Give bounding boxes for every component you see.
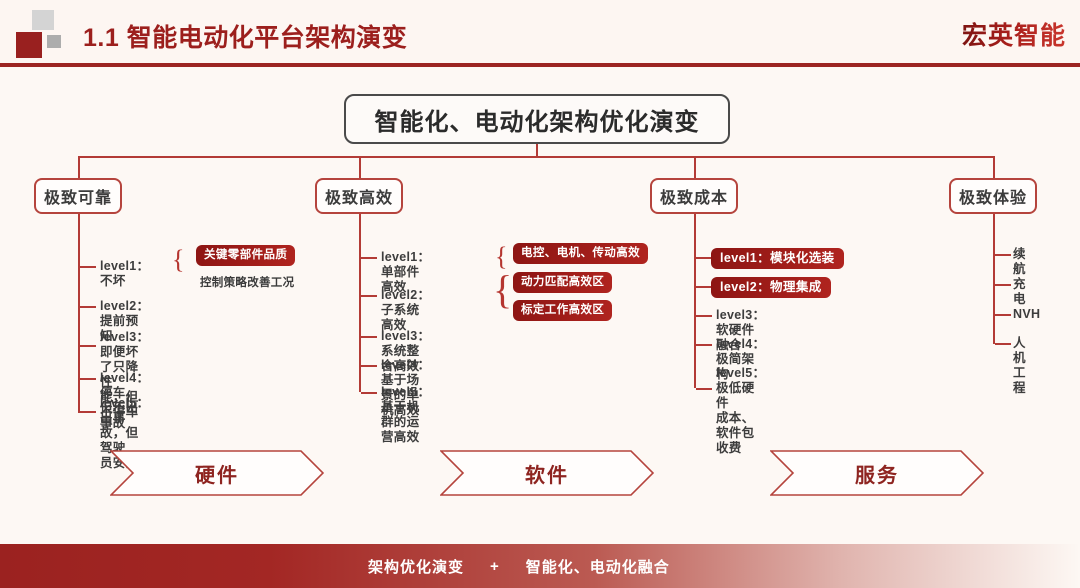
column2-badge-1: 电控、电机、传动高效 (513, 243, 648, 264)
connector-bus (78, 156, 994, 158)
root-node: 智能化、电动化架构优化演变 (344, 94, 730, 144)
chevron-software[interactable]: 软件 (440, 450, 654, 496)
column4-item-4: 人机工程 (1013, 336, 1026, 396)
column2-tick-5 (361, 392, 377, 394)
connector-cat4-spine (993, 214, 995, 248)
column1-tick-5 (80, 411, 96, 413)
column3-spine (694, 248, 696, 388)
column1-note-1: 控制策略改善工况 (200, 274, 294, 290)
column2-badge-2: 动力匹配高效区 (513, 272, 612, 293)
column1-tick-1 (80, 266, 96, 268)
column3-tick-4 (696, 344, 712, 346)
column3-tick-2 (696, 286, 712, 288)
connector-cat1-spine (78, 214, 80, 248)
column1-tick-2 (80, 306, 96, 308)
column1-tick-3 (80, 345, 96, 347)
page-header: 1.1 智能电动化平台架构演变 宏英智能 (0, 0, 1080, 66)
column1-item-1: level1：不坏 (100, 259, 149, 289)
footer-plus-sign: + (490, 558, 500, 575)
chevron-hardware[interactable]: 硬件 (110, 450, 324, 496)
column3-tick-3 (696, 315, 712, 317)
column2-item-2: level2：子系统高效 (381, 288, 430, 333)
footer-right-text: 智能化、电动化融合 (526, 556, 670, 577)
column4-tick-2 (995, 284, 1011, 286)
column2-tick-3 (361, 336, 377, 338)
column4-tick-3 (995, 314, 1011, 316)
column1-spine (78, 248, 80, 413)
column4-item-1: 续航 (1013, 247, 1026, 277)
column3-item-2: level2：物理集成 (711, 277, 831, 298)
chevron-service-label: 服务 (770, 450, 984, 496)
column4-item-2: 充电 (1013, 277, 1026, 307)
footer-left-text: 架构优化演变 (368, 556, 464, 577)
column3-tick-5 (696, 388, 712, 390)
column1-badge-1: 关键零部件品质 (196, 245, 295, 266)
three-squares-logo-icon (16, 10, 76, 56)
column4-spine (993, 248, 995, 344)
column2-tick-4 (361, 365, 377, 367)
chevron-software-label: 软件 (440, 450, 654, 496)
logo-square-red (16, 32, 42, 58)
column2-tick-2 (361, 295, 377, 297)
brand-logo-text: 宏英智能 (962, 16, 1066, 52)
column3-tick-1 (696, 257, 712, 259)
page-footer: 架构优化演变 + 智能化、电动化融合 (0, 544, 1080, 588)
connector-drop-4 (993, 156, 995, 178)
column4-item-3: NVH (1013, 307, 1040, 322)
chevron-hardware-label: 硬件 (110, 450, 324, 496)
column3-item-1: level1：模块化选装 (711, 248, 844, 269)
column3-item-5: level5：极低硬件 成本、软件包收费 (716, 366, 765, 456)
page-title: 1.1 智能电动化平台架构演变 (83, 18, 407, 54)
category-box-1[interactable]: 极致可靠 (34, 178, 122, 214)
connector-cat2-spine (359, 214, 361, 248)
column2-spine (359, 248, 361, 392)
connector-drop-2 (359, 156, 361, 178)
category-box-2[interactable]: 极致高效 (315, 178, 403, 214)
column4-tick-1 (995, 254, 1011, 256)
column4-tick-4 (995, 343, 1011, 345)
category-box-3[interactable]: 极致成本 (650, 178, 738, 214)
column1-tick-4 (80, 378, 96, 380)
connector-cat3-spine (694, 214, 696, 248)
column2-badge-3: 标定工作高效区 (513, 300, 612, 321)
column1-brace-icon: { (172, 247, 184, 273)
connector-drop-3 (694, 156, 696, 178)
logo-square-gray (47, 35, 61, 48)
diagram-canvas: 智能化、电动化架构优化演变 极致可靠 极致高效 极致成本 极致体验 level1… (0, 67, 1080, 532)
logo-square-light (32, 10, 54, 30)
category-box-4[interactable]: 极致体验 (949, 178, 1037, 214)
chevron-service[interactable]: 服务 (770, 450, 984, 496)
column2-tick-1 (361, 257, 377, 259)
connector-root-down (536, 144, 538, 156)
column2-brace-icon-2: { (493, 270, 512, 310)
column2-item-5: level5：基于机群的运营高效 (381, 385, 430, 445)
footer-content: 架构优化演变 + 智能化、电动化融合 (0, 544, 1080, 588)
connector-drop-1 (78, 156, 80, 178)
